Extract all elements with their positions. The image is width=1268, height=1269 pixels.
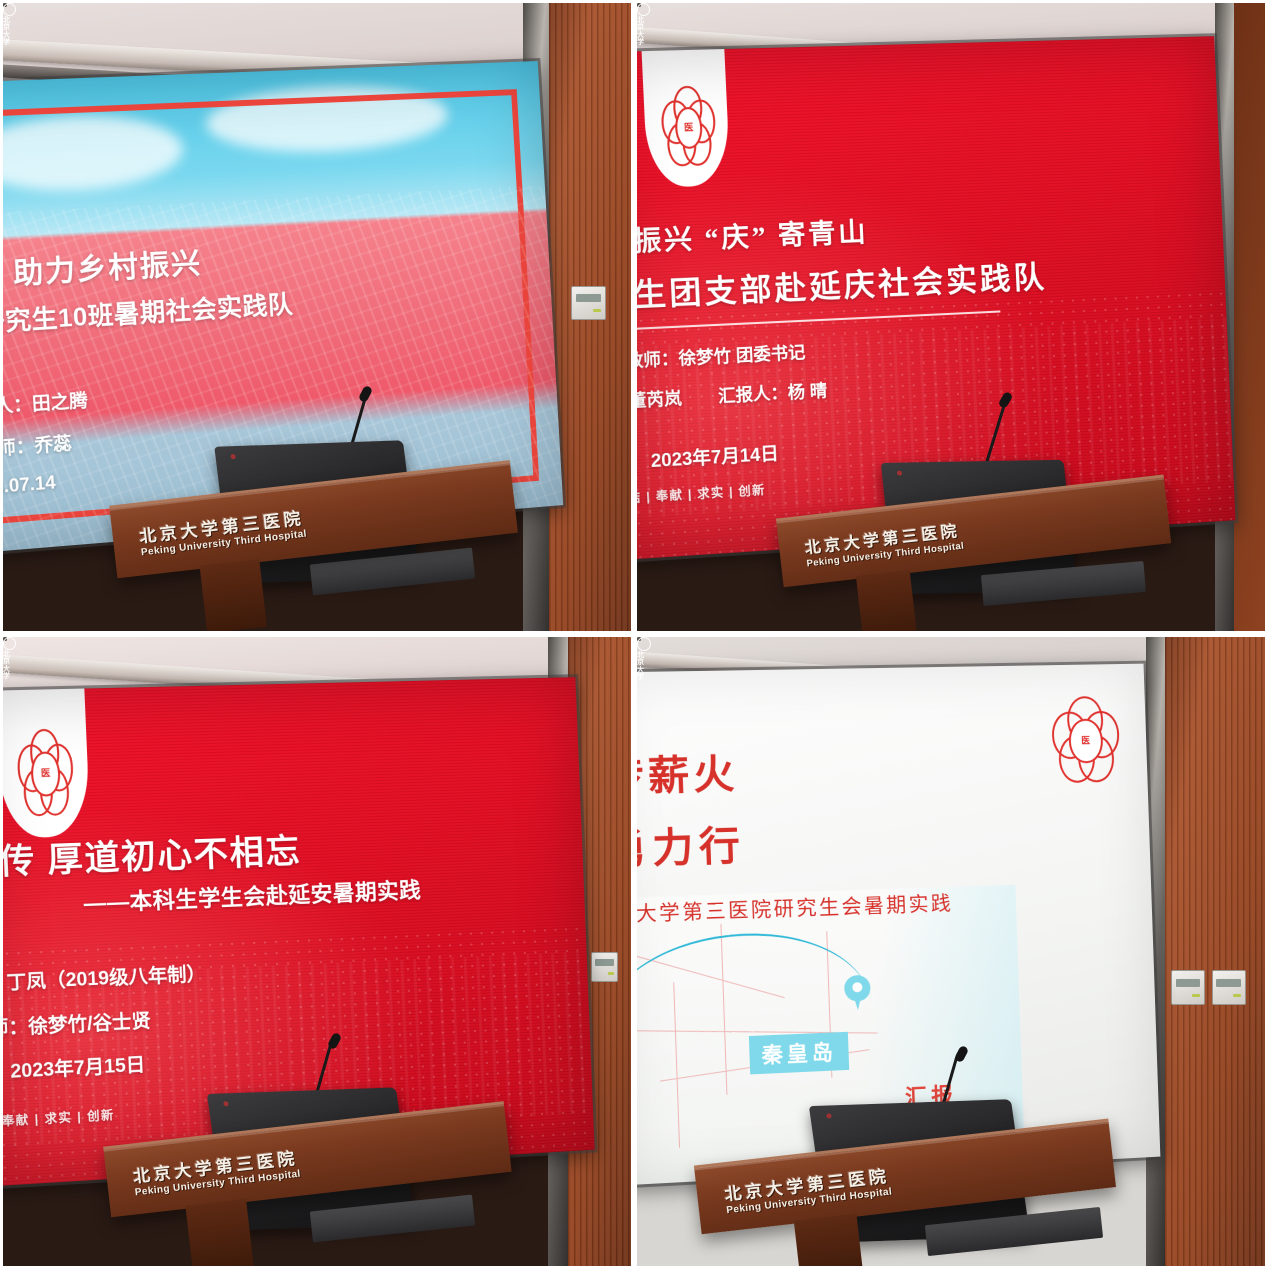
photo-panel-top-left: 北 疗，助力乡村振兴 院研究生10班暑期社会实践队 汇报人：田之腾 导教师：乔蕊…	[3, 3, 631, 631]
photo-collage: 北 疗，助力乡村振兴 院研究生10班暑期社会实践队 汇报人：田之腾 导教师：乔蕊…	[0, 0, 1268, 1269]
hospital-badge: 医	[3, 689, 90, 840]
photo-panel-bottom-right: 医 秦皇岛 传薪火 勇力行 京大学第三医院研究生会暑期实践 汇报 07	[637, 637, 1265, 1266]
wall-control-panel[interactable]	[591, 952, 618, 982]
wall-control-panel[interactable]	[571, 286, 606, 321]
plum-blossom-icon: 医	[659, 75, 714, 161]
chest-logo-text: 北京大学	[637, 652, 644, 681]
photo-panel-top-right: 医 络振兴 “庆” 寄青山 学生团支部赴延庆社会实践队 导教师：徐梦竹 团委书记…	[637, 3, 1265, 631]
photo-panel-bottom-left: 医 年传 厚道初心不相忘 ——本科生学生会赴延安暑期实践 人：丁凤（2019级八…	[3, 637, 631, 1266]
wall-control-panel-2[interactable]	[1212, 970, 1247, 1005]
podium-leg	[186, 1199, 254, 1266]
wood-wall-panel	[1234, 3, 1265, 631]
slide-title: 年传 厚道初心不相忘	[3, 824, 302, 886]
chest-logo-text: 北京大学	[3, 17, 10, 46]
chest-logo-text: 北京大学	[3, 651, 10, 680]
plum-blossom-icon: 医	[14, 717, 73, 810]
slide-advisor-2: 董芮岚	[637, 384, 683, 412]
wall-control-panel[interactable]	[1171, 970, 1206, 1005]
plum-blossom-icon: 医	[1048, 688, 1118, 781]
wood-wall-panel	[1165, 637, 1265, 1266]
podium-leg	[856, 570, 918, 631]
location-pin-icon	[844, 975, 871, 1010]
hospital-badge: 医	[1045, 684, 1122, 785]
slide-title-line-1: 传薪火	[637, 742, 739, 804]
map-route-arc	[637, 921, 872, 1048]
slide-title-line-2: 勇力行	[637, 813, 747, 876]
hospital-badge: 医	[642, 49, 731, 188]
podium-leg	[200, 560, 268, 631]
chest-logo-text: 北京大学	[637, 17, 644, 46]
map-city-label: 秦皇岛	[749, 1033, 850, 1076]
podium-leg	[794, 1214, 863, 1266]
